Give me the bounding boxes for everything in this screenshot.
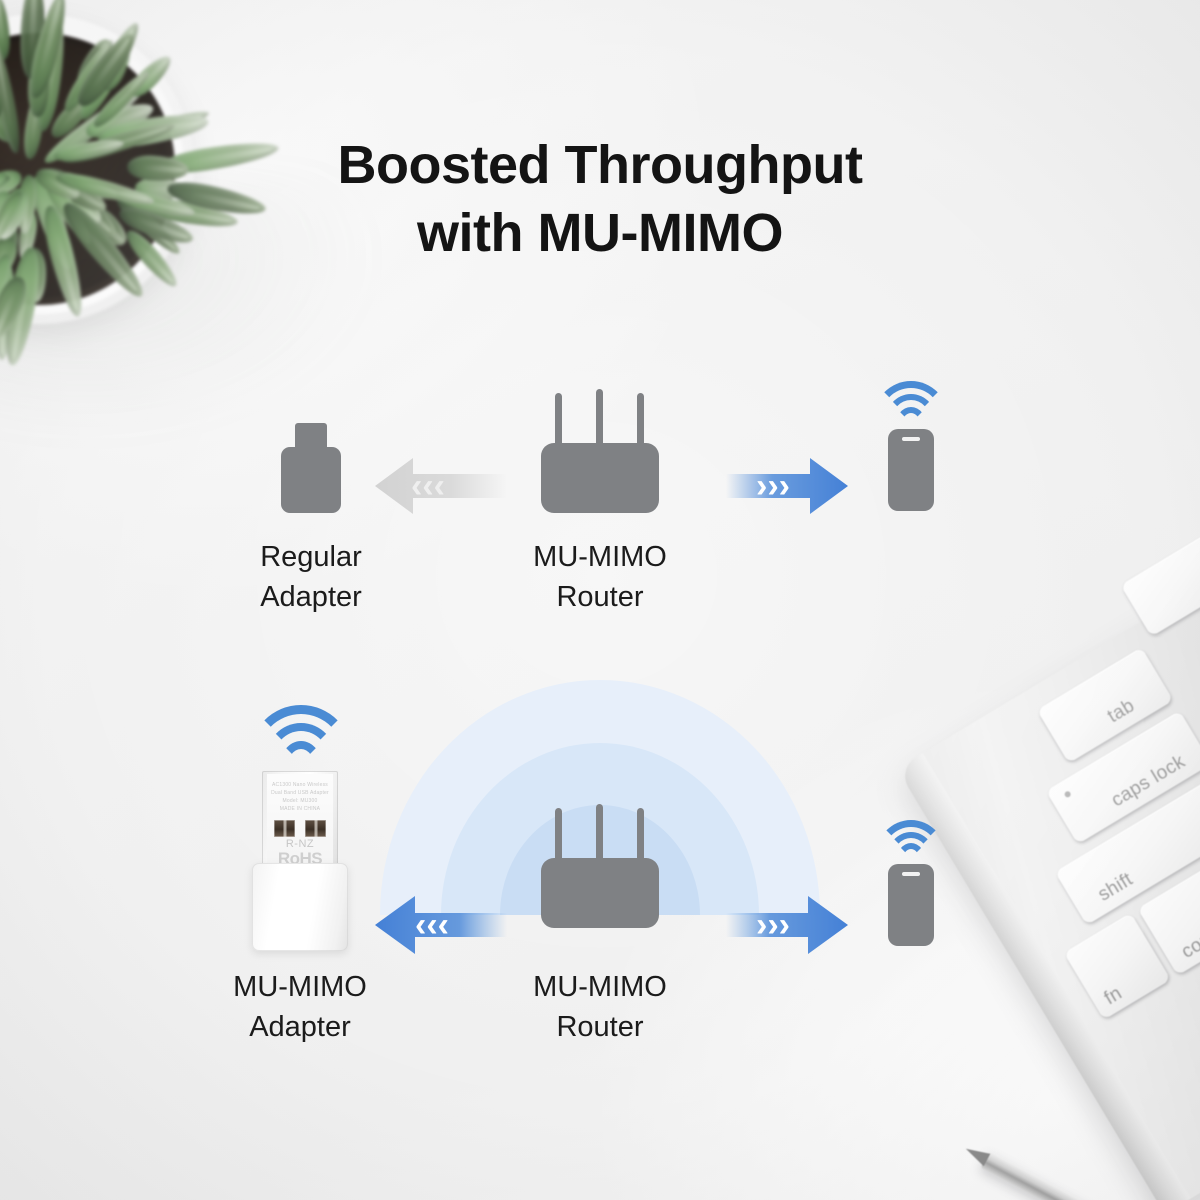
usb-adapter-grey-icon: [281, 423, 341, 513]
phone-speaker-slot: [902, 872, 920, 876]
node-regular-adapter-label: Regular Adapter: [260, 537, 362, 617]
node-mumimo-router-row2-label: MU-MIMO Router: [533, 967, 667, 1047]
usb-print-line-1: AC1300 Nano Wireless: [267, 782, 333, 788]
node-smartphone-row1: [888, 381, 942, 511]
mumimo-diagram: Boosted Throughput with MU-MIMO: [0, 0, 1200, 1200]
usb-plug-shell: AC1300 Nano Wireless Dual Band USB Adapt…: [262, 771, 338, 869]
usb-print-line-2: Dual Band USB Adapter: [267, 790, 333, 796]
smartphone-icon: [888, 429, 934, 511]
usb-body: [281, 447, 341, 513]
label-line-1: MU-MIMO: [533, 537, 667, 577]
node-mumimo-adapter-label: MU-MIMO Adapter: [233, 967, 367, 1047]
usb-contact-left: [274, 820, 295, 837]
page-title: Boosted Throughput with MU-MIMO: [0, 132, 1200, 267]
diagram-row-regular-adapter: Regular Adapter ‹‹: [0, 255, 1200, 555]
node-mumimo-router-row1-label: MU-MIMO Router: [533, 537, 667, 617]
label-line-2: Router: [533, 1007, 667, 1047]
label-line-1: Regular: [260, 537, 362, 577]
smartphone-icon: [888, 864, 934, 946]
label-line-2: Adapter: [233, 1007, 367, 1047]
label-line-1: MU-MIMO: [533, 967, 667, 1007]
label-line-2: Router: [533, 577, 667, 617]
usb-print-line-4: MADE IN CHINA: [267, 806, 333, 812]
router-icon: [541, 405, 659, 513]
router-body: [541, 443, 659, 513]
wifi-signal-icon: [258, 705, 344, 761]
diagram-row-mumimo-adapter: AC1300 Nano Wireless Dual Band USB Adapt…: [0, 665, 1200, 965]
title-line-1: Boosted Throughput: [0, 132, 1200, 200]
screenshot-root: tab caps lock shift fn control option Bo…: [0, 0, 1200, 1200]
downlink-arrow-strong-row1: ›››: [726, 453, 848, 519]
router-antenna-2: [596, 389, 603, 451]
node-smartphone-row2: [888, 820, 939, 946]
label-line-2: Adapter: [260, 577, 362, 617]
downlink-arrow-strong-row2: ›››: [726, 890, 848, 960]
usb-plug-inner: AC1300 Nano Wireless Dual Band USB Adapt…: [267, 774, 333, 867]
usb-adapter-white-icon: AC1300 Nano Wireless Dual Band USB Adapt…: [252, 771, 348, 951]
uplink-arrow-strong: ‹‹‹: [375, 890, 507, 960]
node-regular-adapter: Regular Adapter: [281, 423, 341, 513]
usb-contact-right: [305, 820, 326, 837]
node-mumimo-adapter: AC1300 Nano Wireless Dual Band USB Adapt…: [252, 705, 348, 951]
downlink-arrow-weak: ‹‹‹: [375, 453, 507, 519]
router-body: [541, 858, 659, 928]
label-line-1: MU-MIMO: [233, 967, 367, 1007]
wifi-signal-icon: [883, 820, 939, 856]
router-icon: [541, 820, 659, 928]
node-mumimo-router-row1: MU-MIMO Router: [541, 405, 659, 513]
usb-adapter-body: [252, 863, 348, 951]
router-antenna-2: [596, 804, 603, 866]
phone-speaker-slot: [902, 437, 920, 441]
wifi-signal-icon: [880, 381, 942, 421]
usb-print-line-3: Model: MU300: [267, 798, 333, 804]
node-mumimo-router-row2: MU-MIMO Router: [541, 820, 659, 928]
